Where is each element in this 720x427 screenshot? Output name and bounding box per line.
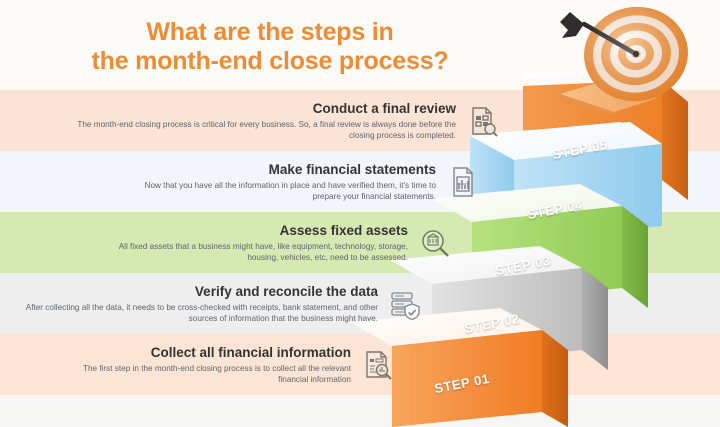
step-body-03: All fixed assets that a business might h…: [100, 241, 408, 264]
step-text-05: Conduct a final review The month-end clo…: [60, 100, 456, 142]
title-line-2: the month-end close process?: [92, 47, 449, 76]
step-body-02: After collecting all the data, it needs …: [10, 302, 378, 325]
step-heading-04: Make financial statements: [120, 161, 436, 178]
chart-magnifier-icon: [361, 348, 395, 382]
asset-magnifier-icon: [418, 226, 452, 260]
step-body-01: The first step in the month-end closing …: [60, 363, 351, 386]
step-text-04: Make financial statements Now that you h…: [120, 161, 436, 203]
document-review-icon: [466, 104, 500, 138]
step-text-03: Assess fixed assets All fixed assets tha…: [100, 222, 408, 264]
dartboard-with-dart-icon: [540, 2, 720, 114]
database-shield-icon: [388, 287, 422, 321]
step-text-01: Collect all financial information The fi…: [60, 344, 351, 386]
step-row-04: Make financial statements Now that you h…: [120, 153, 480, 210]
title-line-1: What are the steps in: [146, 18, 393, 47]
step-row-02: Verify and reconcile the data After coll…: [10, 275, 422, 332]
step-heading-02: Verify and reconcile the data: [10, 283, 378, 300]
infographic-canvas: STEP 05 STEP 04 STEP 03 STEP 02 STEP 01 …: [0, 0, 720, 427]
step-heading-01: Collect all financial information: [60, 344, 351, 361]
step-row-03: Assess fixed assets All fixed assets tha…: [100, 214, 452, 271]
step-heading-05: Conduct a final review: [60, 100, 456, 117]
step-heading-03: Assess fixed assets: [100, 222, 408, 239]
financial-report-icon: [446, 165, 480, 199]
step-row-05: Conduct a final review The month-end clo…: [60, 92, 500, 149]
step-body-04: Now that you have all the information in…: [120, 180, 436, 203]
page-title: What are the steps in the month-end clos…: [0, 8, 540, 86]
step-row-01: Collect all financial information The fi…: [60, 336, 395, 393]
step-body-05: The month-end closing process is critica…: [60, 119, 456, 142]
step-text-02: Verify and reconcile the data After coll…: [10, 283, 378, 325]
